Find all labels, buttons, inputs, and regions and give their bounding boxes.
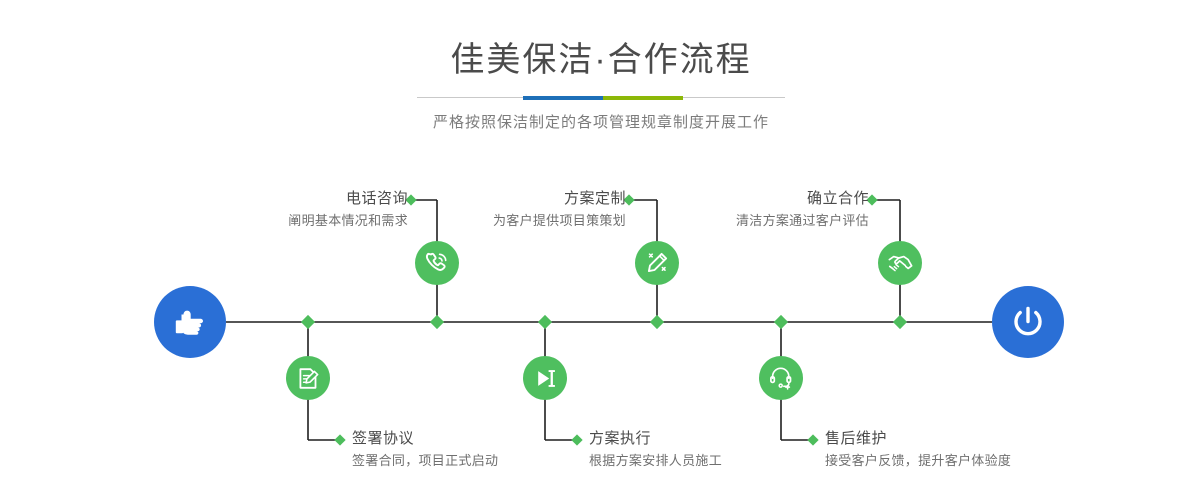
axis-diamond-2 xyxy=(430,315,444,329)
handshake-icon xyxy=(887,250,914,277)
flow-end-node[interactable] xyxy=(992,286,1064,358)
flow-diagram: 电话咨询 阐明基本情况和需求 方案定制 为客户提供项目策策划 xyxy=(0,0,1202,502)
flow-start-node[interactable] xyxy=(154,286,226,358)
cooperation-flow-infographic: 佳美保洁·合作流程 严格按照保洁制定的各项管理规章制度开展工作 xyxy=(0,0,1202,502)
axis-diamond-6 xyxy=(893,315,907,329)
label-diamonds xyxy=(334,194,877,445)
step-label-6: 售后维护 接受客户反馈，提升客户体验度 xyxy=(825,428,1011,471)
step-node-2[interactable] xyxy=(286,356,330,400)
label-diamond-step-6 xyxy=(807,434,818,445)
label-diamond-step-4 xyxy=(571,434,582,445)
step-title-1: 电话咨询 xyxy=(160,188,408,209)
flow-connectors xyxy=(0,0,1202,502)
step-desc-5: 清洁方案通过客户评估 xyxy=(620,211,869,231)
step-label-4: 方案执行 根据方案安排人员施工 xyxy=(589,428,722,471)
step-label-3: 方案定制 为客户提供项目策策划 xyxy=(380,188,626,231)
axis-diamond-5 xyxy=(774,315,788,329)
step-desc-2: 签署合同，项目正式启动 xyxy=(352,451,498,471)
axis-diamond-4 xyxy=(650,315,664,329)
step-desc-3: 为客户提供项目策策划 xyxy=(380,211,626,231)
step-desc-6: 接受客户反馈，提升客户体验度 xyxy=(825,451,1011,471)
play-execute-icon xyxy=(533,366,558,391)
axis-diamond-3 xyxy=(538,315,552,329)
step-title-2: 签署协议 xyxy=(352,428,498,449)
step-title-3: 方案定制 xyxy=(380,188,626,209)
phone-call-icon xyxy=(424,250,450,276)
sign-document-icon xyxy=(296,366,321,391)
step-node-4[interactable] xyxy=(523,356,567,400)
step-label-5: 确立合作 清洁方案通过客户评估 xyxy=(620,188,869,231)
step-title-4: 方案执行 xyxy=(589,428,722,449)
step-title-5: 确立合作 xyxy=(620,188,869,209)
label-diamond-step-2 xyxy=(334,434,345,445)
step-node-6[interactable] xyxy=(759,356,803,400)
step-title-6: 售后维护 xyxy=(825,428,1011,449)
step-label-1: 电话咨询 阐明基本情况和需求 xyxy=(160,188,408,231)
step-label-2: 签署协议 签署合同，项目正式启动 xyxy=(352,428,498,471)
customer-service-icon xyxy=(768,365,794,391)
step-node-5[interactable] xyxy=(878,241,922,285)
step-node-3[interactable] xyxy=(635,241,679,285)
pencil-design-icon xyxy=(644,250,670,276)
step-desc-4: 根据方案安排人员施工 xyxy=(589,451,722,471)
pointing-hand-icon xyxy=(170,302,210,342)
step-node-1[interactable] xyxy=(415,241,459,285)
axis-diamond-1 xyxy=(301,315,315,329)
step-desc-1: 阐明基本情况和需求 xyxy=(160,211,408,231)
power-button-icon xyxy=(1007,301,1049,343)
